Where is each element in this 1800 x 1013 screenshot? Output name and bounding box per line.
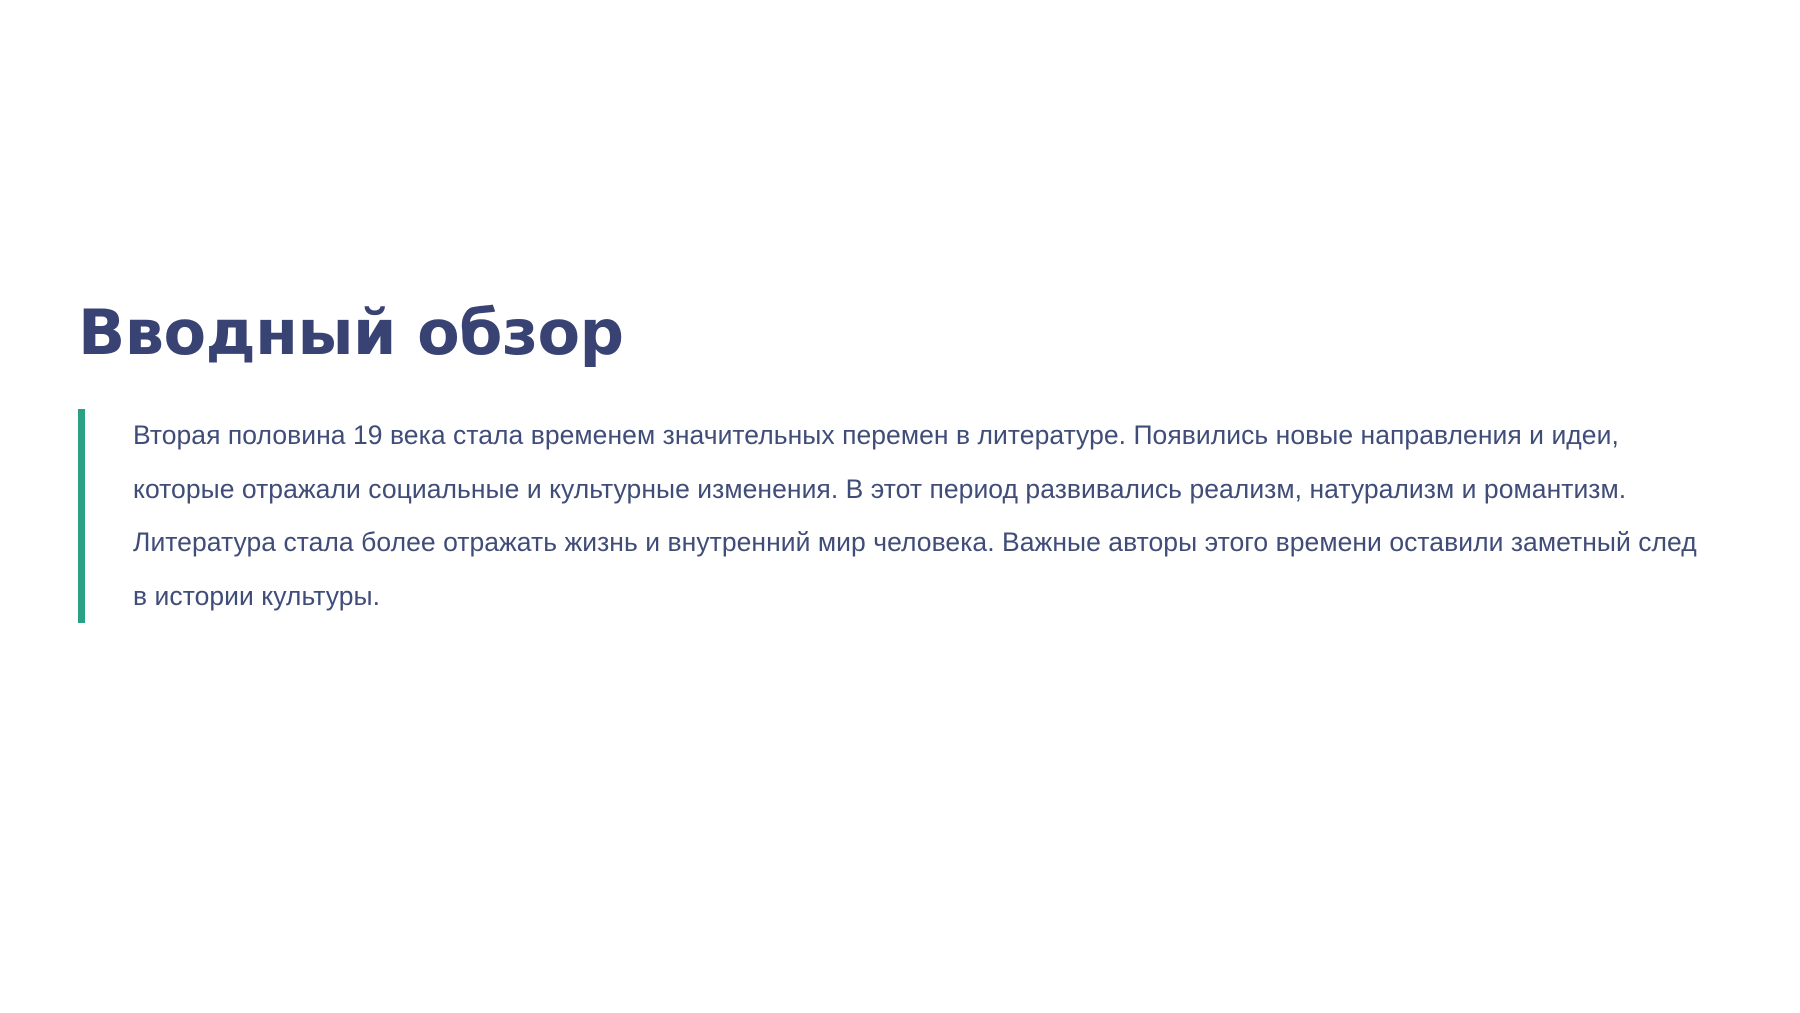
body-paragraph-container: Вторая половина 19 века стала временем з…	[78, 409, 1718, 623]
body-paragraph: Вторая половина 19 века стала временем з…	[133, 409, 1718, 623]
slide-canvas: Вводный обзор Вторая половина 19 века ст…	[0, 0, 1800, 1013]
page-title: Вводный обзор	[78, 300, 1718, 365]
accent-bar	[78, 409, 85, 623]
slide-content-block: Вводный обзор Вторая половина 19 века ст…	[78, 300, 1718, 623]
